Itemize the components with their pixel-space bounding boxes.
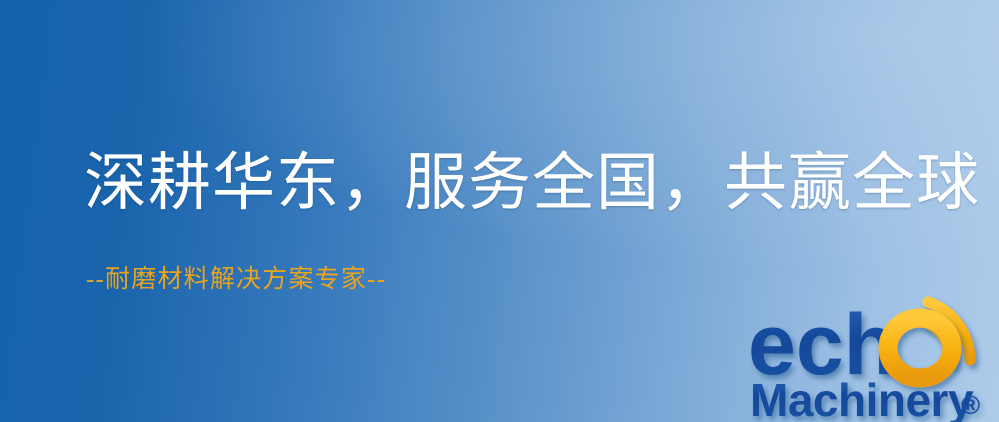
promo-banner: 深耕华东，服务全国，共赢全球 --耐磨材料解决方案专家-- — [0, 0, 999, 422]
logo-wordmark-o — [888, 318, 952, 378]
echo-machinery-logo[interactable]: ech Machinery ® — [748, 296, 999, 422]
banner-headline: 深耕华东，服务全国，共赢全球 — [84, 152, 980, 215]
logo-wordmark-machinery: Machinery — [750, 374, 974, 422]
banner-subtitle: --耐磨材料解决方案专家-- — [86, 267, 386, 292]
logo-registered-mark: ® — [961, 390, 980, 420]
